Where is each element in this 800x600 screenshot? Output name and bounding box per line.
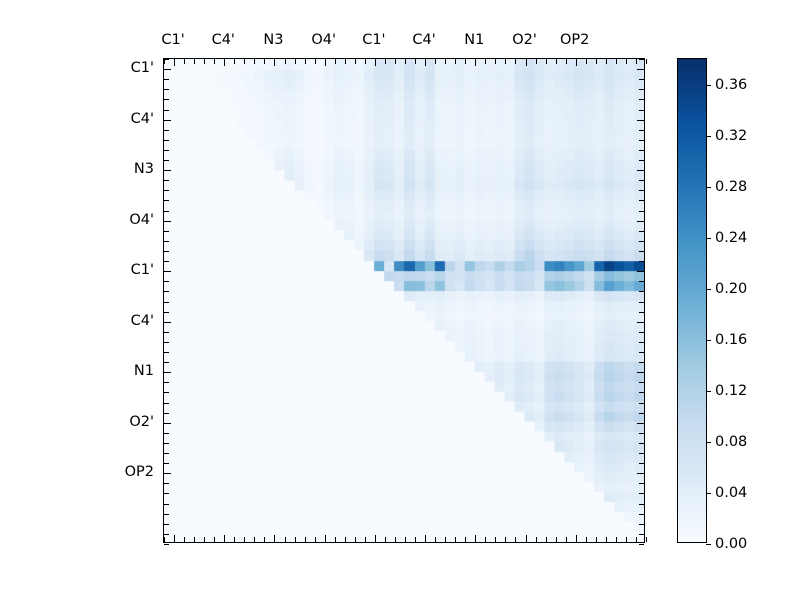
y-tick-label: O4' <box>0 212 154 228</box>
x-tick <box>546 537 547 542</box>
y-tick-label: O2' <box>0 414 154 430</box>
y-tick <box>164 281 169 282</box>
y-tick <box>639 514 644 515</box>
colorbar-tick-label: 0.20 <box>715 281 747 297</box>
x-tick <box>515 59 516 64</box>
y-tick <box>164 150 169 151</box>
colorbar-tick-label: 0.32 <box>715 128 747 144</box>
y-tick <box>164 524 169 525</box>
y-tick <box>164 99 169 100</box>
x-tick <box>375 535 376 542</box>
y-tick <box>639 79 644 80</box>
x-tick <box>385 537 386 542</box>
x-tick-label: O2' <box>512 32 537 48</box>
y-tick <box>164 342 169 343</box>
x-tick <box>626 537 627 542</box>
y-tick <box>637 170 644 171</box>
x-tick <box>214 537 215 542</box>
x-tick <box>546 59 547 64</box>
x-tick <box>184 59 185 64</box>
y-tick <box>164 493 169 494</box>
colorbar-tick-label: 0.28 <box>715 179 747 195</box>
y-tick <box>639 190 644 191</box>
colorbar-tick <box>706 187 711 188</box>
colorbar-tick <box>706 544 711 545</box>
y-tick <box>637 423 644 424</box>
x-tick <box>636 59 637 64</box>
y-tick <box>164 362 169 363</box>
x-tick <box>244 537 245 542</box>
x-tick <box>596 537 597 542</box>
y-tick <box>164 423 171 424</box>
x-tick <box>616 59 617 64</box>
y-tick <box>164 130 169 131</box>
x-tick <box>405 59 406 64</box>
y-tick <box>164 89 169 90</box>
colorbar-tick-label: 0.00 <box>715 536 747 552</box>
colorbar-tick-label: 0.36 <box>715 77 747 93</box>
y-tick <box>639 483 644 484</box>
y-tick <box>637 69 644 70</box>
y-tick <box>164 170 171 171</box>
x-tick <box>606 537 607 542</box>
x-tick <box>556 537 557 542</box>
x-tick <box>485 59 486 64</box>
x-tick <box>395 59 396 64</box>
y-tick <box>164 221 171 222</box>
y-tick <box>164 231 169 232</box>
heatmap-image <box>164 59 644 542</box>
x-tick <box>526 535 527 542</box>
x-tick-label: C1' <box>161 32 184 48</box>
x-tick <box>505 537 506 542</box>
y-tick <box>639 352 644 353</box>
y-tick <box>639 211 644 212</box>
x-tick <box>566 537 567 542</box>
y-tick <box>164 241 169 242</box>
x-tick <box>315 537 316 542</box>
y-tick <box>639 291 644 292</box>
y-tick <box>639 180 644 181</box>
x-tick <box>455 59 456 64</box>
y-tick <box>639 453 644 454</box>
x-tick <box>254 59 255 64</box>
x-tick <box>234 537 235 542</box>
x-tick <box>285 537 286 542</box>
colorbar-gradient <box>678 59 706 542</box>
x-tick <box>375 59 376 66</box>
y-tick <box>164 59 169 60</box>
colorbar-tick-label: 0.16 <box>715 332 747 348</box>
y-tick-label: C1' <box>0 262 154 278</box>
x-tick <box>646 537 647 542</box>
y-tick <box>164 110 169 111</box>
x-tick <box>295 59 296 64</box>
x-tick <box>475 59 476 66</box>
y-tick <box>164 261 169 262</box>
x-tick <box>365 537 366 542</box>
y-tick <box>639 160 644 161</box>
x-tick-label: O4' <box>311 32 336 48</box>
heatmap-axes <box>163 58 645 543</box>
y-tick <box>164 160 169 161</box>
colorbar-tick <box>706 340 711 341</box>
y-tick <box>639 443 644 444</box>
x-tick <box>526 59 527 66</box>
x-tick <box>576 535 577 542</box>
x-tick <box>264 59 265 64</box>
x-tick <box>435 59 436 64</box>
y-tick <box>639 89 644 90</box>
x-tick-label: C4' <box>212 32 235 48</box>
x-tick <box>345 537 346 542</box>
colorbar-tick-label: 0.08 <box>715 434 747 450</box>
y-tick <box>164 372 171 373</box>
x-tick <box>305 537 306 542</box>
y-tick <box>639 130 644 131</box>
x-tick <box>586 537 587 542</box>
x-tick <box>345 59 346 64</box>
x-tick <box>194 59 195 64</box>
colorbar-tick-label: 0.12 <box>715 383 747 399</box>
x-tick <box>425 535 426 542</box>
y-tick <box>164 79 169 80</box>
x-tick <box>254 537 255 542</box>
x-tick <box>204 59 205 64</box>
x-tick <box>475 535 476 542</box>
y-tick <box>639 382 644 383</box>
x-tick <box>445 537 446 542</box>
x-tick <box>626 59 627 64</box>
y-tick <box>164 180 169 181</box>
y-tick <box>639 362 644 363</box>
y-tick <box>639 403 644 404</box>
y-tick <box>639 392 644 393</box>
x-tick <box>204 537 205 542</box>
y-tick <box>164 332 169 333</box>
x-tick <box>325 535 326 542</box>
x-tick <box>234 59 235 64</box>
y-tick <box>164 312 169 313</box>
y-tick-label: C4' <box>0 111 154 127</box>
x-tick-label: OP2 <box>560 32 589 48</box>
x-tick <box>335 537 336 542</box>
y-tick <box>639 524 644 525</box>
colorbar: 0.000.040.080.120.160.200.240.280.320.36 <box>677 58 707 543</box>
y-tick <box>164 211 169 212</box>
y-tick <box>639 281 644 282</box>
y-tick <box>637 120 644 121</box>
y-tick-label: C1' <box>0 60 154 76</box>
x-tick <box>596 59 597 64</box>
y-tick-label: OP2 <box>0 464 154 480</box>
y-tick <box>639 332 644 333</box>
colorbar-tick <box>706 442 711 443</box>
x-tick <box>445 59 446 64</box>
y-tick <box>164 403 169 404</box>
x-tick <box>385 59 386 64</box>
y-tick <box>164 534 169 535</box>
y-tick <box>639 544 644 545</box>
y-tick <box>164 271 171 272</box>
x-tick <box>536 537 537 542</box>
y-tick <box>164 190 169 191</box>
y-tick <box>164 463 169 464</box>
x-tick <box>274 535 275 542</box>
x-tick <box>295 537 296 542</box>
colorbar-tick-label: 0.24 <box>715 230 747 246</box>
y-tick <box>639 504 644 505</box>
y-tick <box>164 433 169 434</box>
x-tick <box>415 59 416 64</box>
x-tick <box>495 537 496 542</box>
y-tick <box>164 69 171 70</box>
colorbar-tick <box>706 289 711 290</box>
x-tick-label: N3 <box>263 32 283 48</box>
x-tick <box>365 59 366 64</box>
y-tick <box>164 200 169 201</box>
x-tick-label: N1 <box>464 32 484 48</box>
y-tick <box>164 352 169 353</box>
y-tick <box>164 382 169 383</box>
colorbar-tick-label: 0.04 <box>715 485 747 501</box>
y-tick <box>639 413 644 414</box>
y-tick-label: N1 <box>0 363 154 379</box>
y-tick <box>639 140 644 141</box>
x-tick <box>395 537 396 542</box>
x-tick <box>465 537 466 542</box>
y-tick <box>164 443 169 444</box>
y-tick <box>164 302 169 303</box>
y-tick <box>164 291 169 292</box>
y-tick <box>164 120 171 121</box>
x-tick <box>194 537 195 542</box>
x-tick <box>224 59 225 66</box>
x-tick <box>214 59 215 64</box>
x-tick <box>636 537 637 542</box>
y-tick <box>164 322 171 323</box>
x-tick <box>264 537 265 542</box>
y-tick <box>639 99 644 100</box>
y-tick-label: N3 <box>0 161 154 177</box>
colorbar-tick <box>706 136 711 137</box>
x-tick <box>616 537 617 542</box>
colorbar-tick <box>706 85 711 86</box>
x-tick <box>184 537 185 542</box>
y-tick <box>164 251 169 252</box>
y-tick <box>639 463 644 464</box>
y-tick <box>639 231 644 232</box>
x-tick <box>335 59 336 64</box>
x-tick <box>586 59 587 64</box>
y-tick <box>164 140 169 141</box>
x-tick-label: C1' <box>362 32 385 48</box>
x-tick <box>536 59 537 64</box>
x-tick <box>465 59 466 64</box>
y-tick <box>164 473 171 474</box>
y-tick <box>637 473 644 474</box>
y-tick <box>164 544 169 545</box>
x-tick <box>505 59 506 64</box>
x-tick <box>646 59 647 64</box>
y-tick <box>637 322 644 323</box>
x-tick-label: C4' <box>412 32 435 48</box>
y-tick <box>639 251 644 252</box>
x-tick <box>556 59 557 64</box>
x-tick <box>485 537 486 542</box>
colorbar-tick <box>706 238 711 239</box>
y-tick <box>637 221 644 222</box>
y-tick-label: C4' <box>0 313 154 329</box>
colorbar-tick <box>706 391 711 392</box>
x-tick <box>355 537 356 542</box>
y-tick <box>639 493 644 494</box>
y-tick <box>639 433 644 434</box>
y-tick <box>639 241 644 242</box>
y-tick <box>639 312 644 313</box>
x-tick <box>455 537 456 542</box>
x-tick <box>315 59 316 64</box>
x-tick <box>274 59 275 66</box>
y-tick <box>639 150 644 151</box>
y-tick <box>164 453 169 454</box>
x-tick <box>174 59 175 66</box>
x-tick <box>305 59 306 64</box>
x-tick <box>174 535 175 542</box>
x-tick <box>495 59 496 64</box>
x-tick <box>576 59 577 66</box>
y-tick <box>639 200 644 201</box>
x-tick <box>325 59 326 66</box>
y-tick <box>164 483 169 484</box>
y-tick <box>639 110 644 111</box>
x-tick <box>355 59 356 64</box>
x-tick <box>435 537 436 542</box>
colorbar-tick <box>706 493 711 494</box>
y-tick <box>639 342 644 343</box>
y-tick <box>164 514 169 515</box>
x-tick <box>164 537 165 542</box>
x-tick <box>285 59 286 64</box>
x-tick <box>405 537 406 542</box>
x-tick <box>515 537 516 542</box>
y-tick <box>637 372 644 373</box>
x-tick <box>244 59 245 64</box>
y-tick <box>637 271 644 272</box>
figure-canvas: C1'C4'N3O4'C1'C4'N1O2'OP2 C1'C4'N3O4'C1'… <box>0 0 800 600</box>
y-tick <box>164 504 169 505</box>
x-tick <box>415 537 416 542</box>
y-tick <box>639 261 644 262</box>
x-tick <box>566 59 567 64</box>
y-tick <box>164 413 169 414</box>
y-tick <box>164 392 169 393</box>
x-tick <box>224 535 225 542</box>
y-tick <box>639 302 644 303</box>
y-tick <box>639 59 644 60</box>
x-tick <box>425 59 426 66</box>
y-tick <box>639 534 644 535</box>
x-tick <box>606 59 607 64</box>
